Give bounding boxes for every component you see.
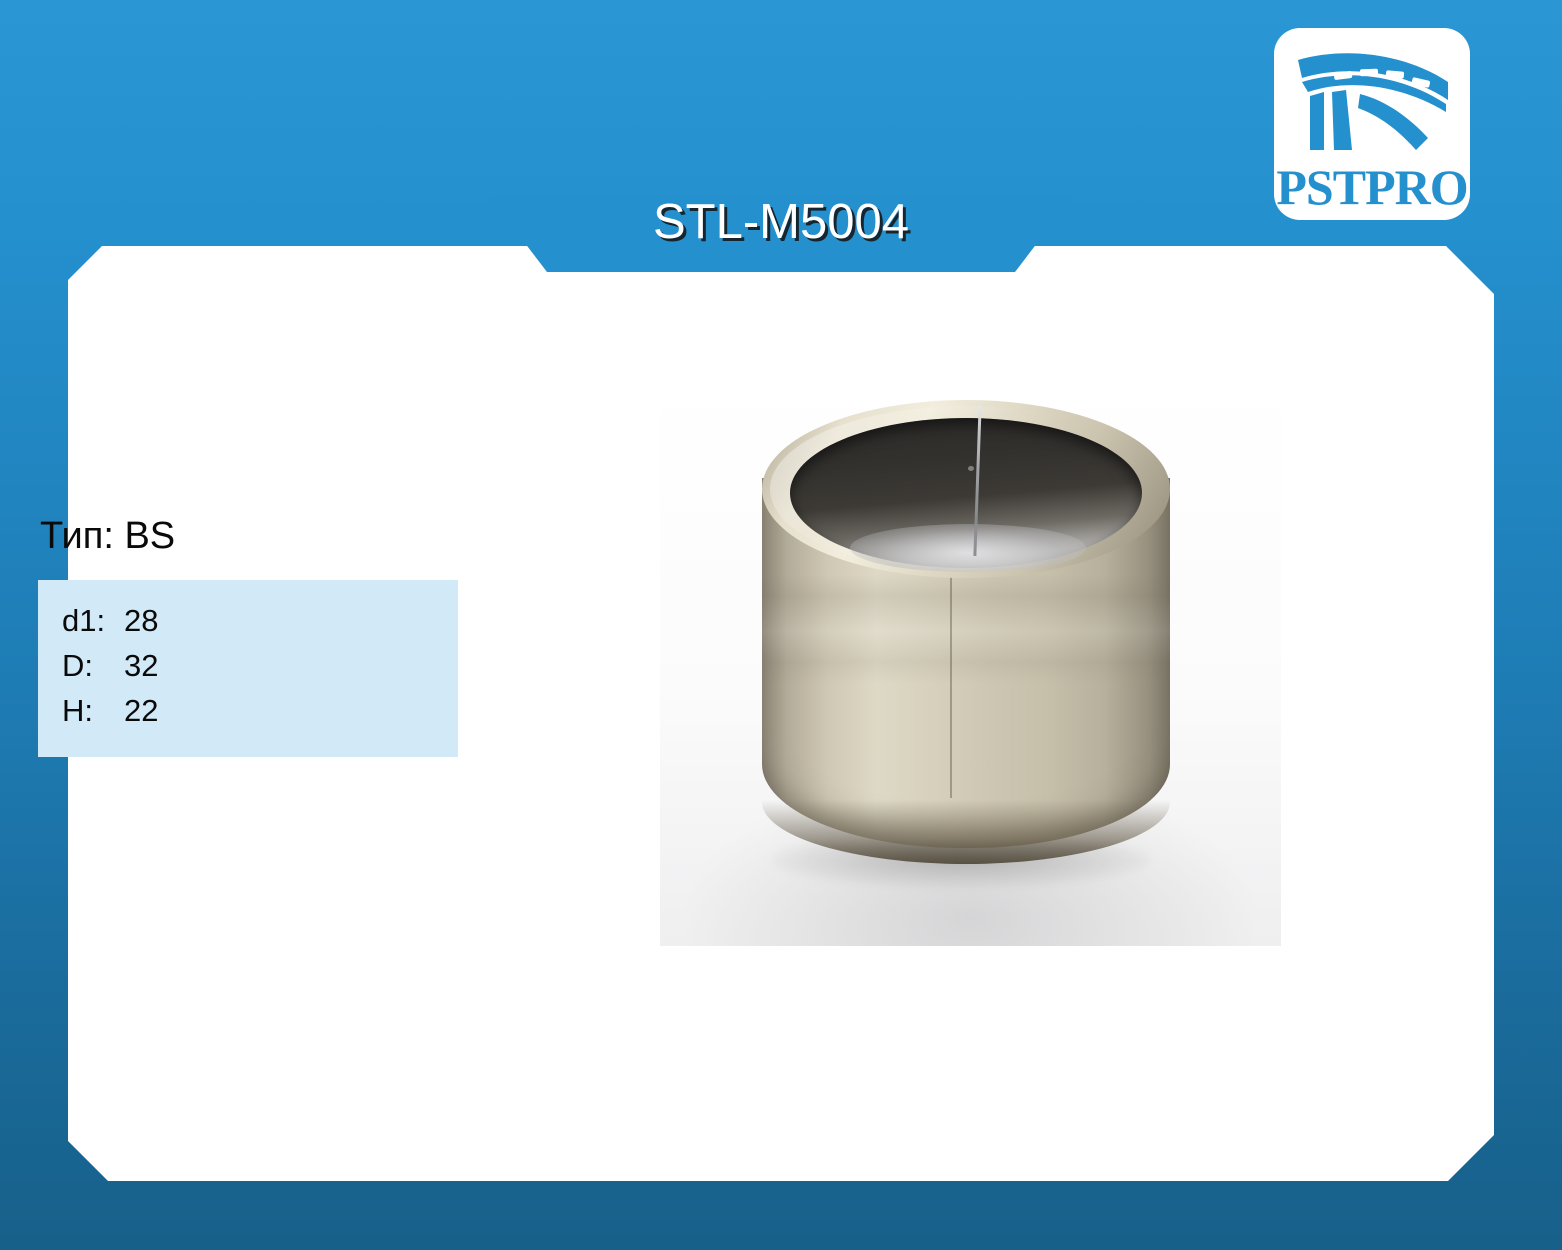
bushing-bottom-rim: [762, 800, 1170, 864]
dimension-label: D:: [62, 650, 124, 681]
dimension-label: d1:: [62, 605, 124, 636]
bushing-seam-wall: [950, 572, 952, 798]
page-title: STL-M5004: [653, 198, 909, 247]
dimension-value: 32: [124, 650, 158, 681]
bushing-illustration: [754, 400, 1178, 888]
type-line: Тип: BS: [38, 516, 468, 558]
title-banner: STL-M5004: [489, 196, 1073, 272]
product-spec-sheet: STL-M5004 PSTPRO Тип: BS d1: 28: [0, 0, 1562, 1250]
dimension-value: 22: [124, 695, 158, 726]
product-photo-canvas: [660, 380, 1281, 946]
brand-logo: PSTPRO: [1274, 28, 1470, 220]
road-bridge-icon: [1288, 38, 1456, 160]
dimension-row: D: 32: [38, 643, 458, 688]
bushing-bore-highlight: [850, 524, 1086, 572]
logo-wordmark: PSTPRO: [1274, 162, 1470, 212]
product-photo: [660, 380, 1281, 946]
dimension-value: 28: [124, 605, 158, 636]
dimension-label: H:: [62, 695, 124, 726]
dimensions-box: d1: 28 D: 32 H: 22: [38, 580, 458, 757]
spec-area: Тип: BS d1: 28 D: 32 H: 22: [38, 516, 468, 757]
dimension-row: d1: 28: [38, 598, 458, 643]
dimension-row: H: 22: [38, 688, 458, 733]
bushing-speck: [968, 466, 974, 471]
bushing-bore: [790, 418, 1142, 568]
